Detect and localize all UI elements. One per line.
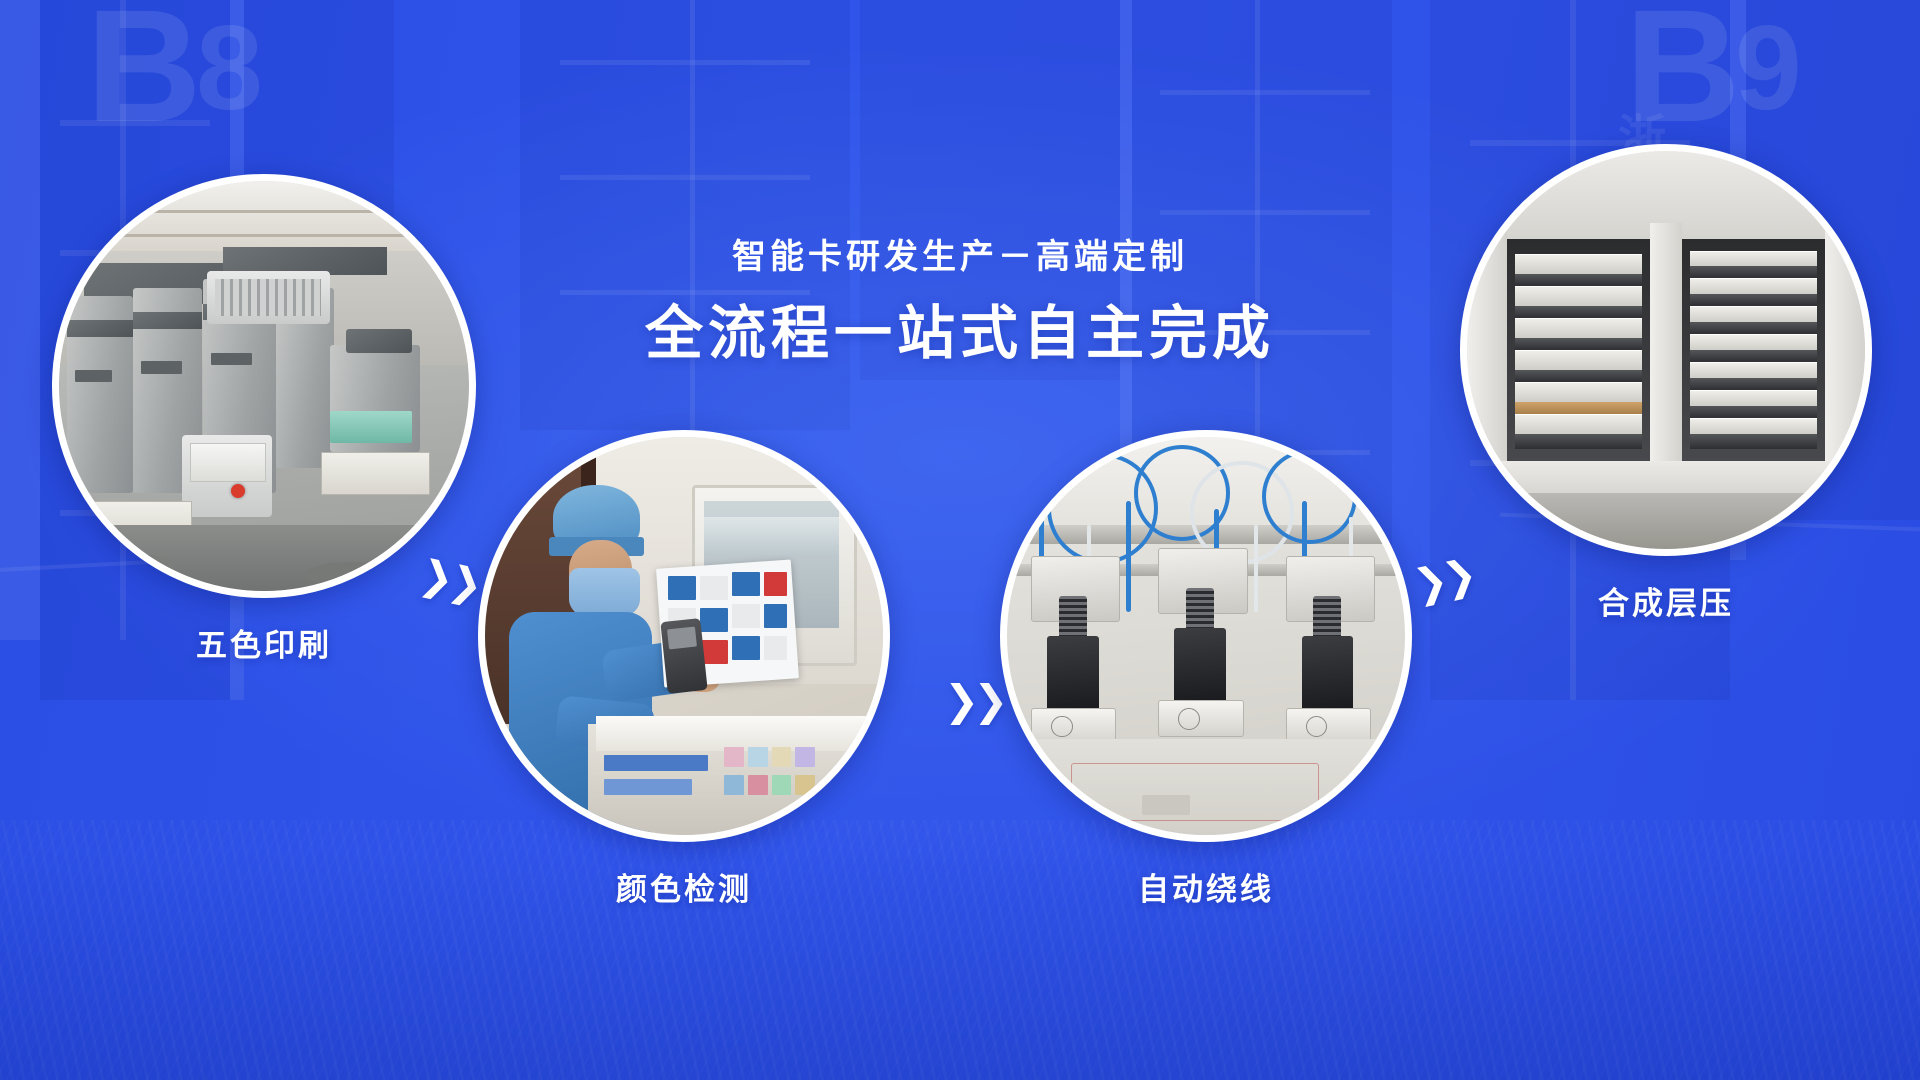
process-step-4-caption: 合成层压 <box>1460 578 1872 623</box>
five-color-printing-press-photo <box>52 174 476 598</box>
process-step-4[interactable]: 合成层压 <box>1460 144 1872 623</box>
lamination-press-photo <box>1460 144 1872 556</box>
process-step-2-caption: 颜色检测 <box>478 864 890 909</box>
process-step-1[interactable]: 五色印刷 <box>52 174 476 665</box>
automatic-coil-winding-photo <box>1000 430 1412 842</box>
chevron-2-3-icon: ❯❯ <box>944 680 1002 722</box>
process-step-3[interactable]: 自动绕线 <box>1000 430 1412 909</box>
process-step-1-caption: 五色印刷 <box>52 620 476 665</box>
process-step-2[interactable]: 颜色检测 <box>478 430 890 909</box>
process-step-3-caption: 自动绕线 <box>1000 864 1412 909</box>
color-inspection-worker-photo <box>478 430 890 842</box>
promo-banner: B 8 B 9 浙 智能卡研发生产－高端定制 全流程一站式自主完成 <box>0 0 1920 1080</box>
